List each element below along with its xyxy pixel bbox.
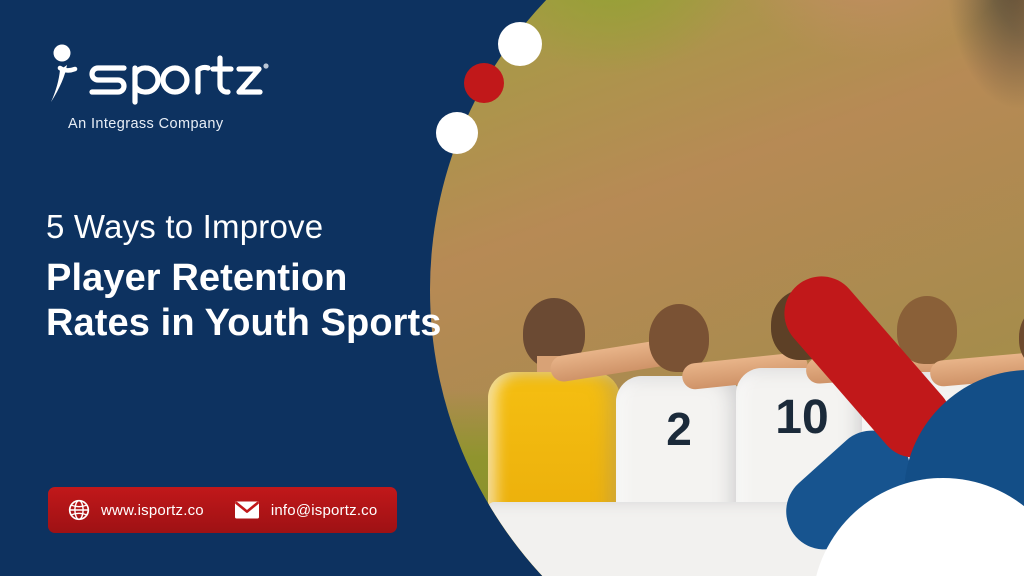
decor-dot-white-top [498, 22, 542, 66]
marketing-banner: 2 10 3 4 [0, 0, 1024, 576]
globe-icon [68, 499, 90, 521]
website-label: www.isportz.co [101, 502, 204, 519]
envelope-icon [234, 500, 260, 520]
brand-logo[interactable]: An Integrass Company [40, 44, 270, 132]
decor-dot-red [464, 63, 504, 103]
contact-bar: www.isportz.co info@isportz.co [48, 487, 397, 533]
headline-title: Player Retention Rates in Youth Sports [46, 256, 446, 346]
jersey-number: 2 [666, 402, 692, 456]
headline-eyebrow: 5 Ways to Improve [46, 208, 446, 246]
contact-website[interactable]: www.isportz.co [68, 499, 204, 521]
decor-dot-white-bottom [436, 112, 478, 154]
brand-tagline: An Integrass Company [68, 116, 270, 132]
contact-email[interactable]: info@isportz.co [234, 500, 378, 520]
jersey-number: 10 [775, 390, 828, 445]
isportz-logo-icon [40, 44, 270, 106]
headline-block: 5 Ways to Improve Player Retention Rates… [46, 208, 446, 346]
email-label: info@isportz.co [271, 502, 378, 519]
